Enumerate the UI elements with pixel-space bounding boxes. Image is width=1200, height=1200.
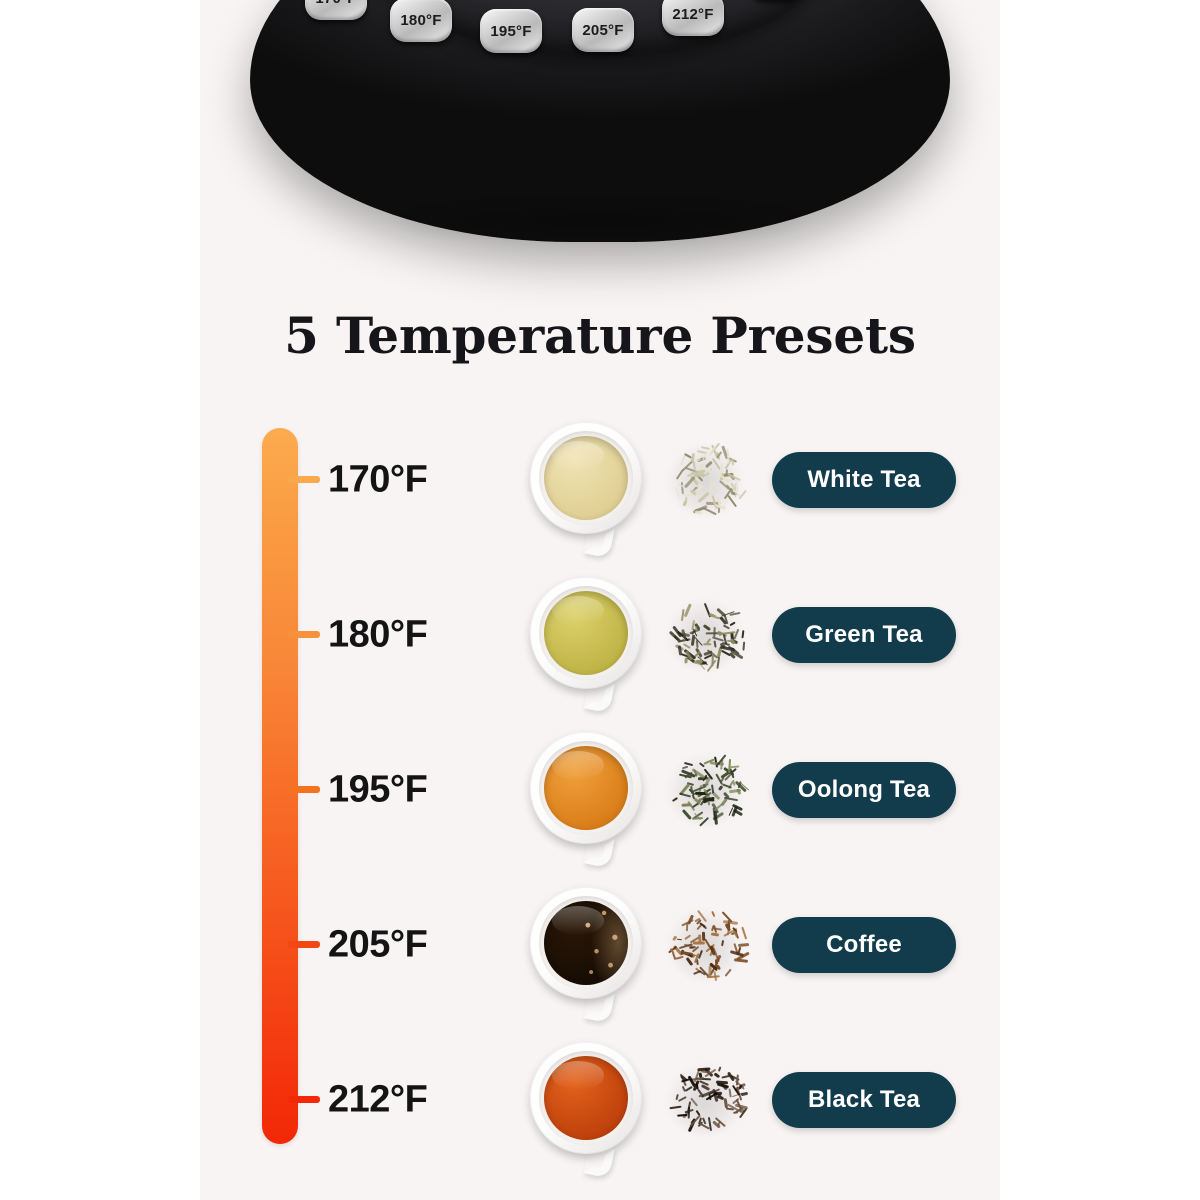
preset-row-list: 170°FWhite Tea180°FGreen Tea195°FOolong … xyxy=(200,420,1000,1160)
kettle-button-oolong[interactable]: 195°F xyxy=(480,9,542,53)
preset-label-pill-coffee[interactable]: Coffee xyxy=(772,917,956,973)
infographic-stage: ON / OFF170°FWHITE180°FGREEN195°FOOLONG2… xyxy=(0,0,1200,1200)
kettle-button-temp-value: 205°F xyxy=(582,22,623,39)
cup-coffee xyxy=(530,887,642,999)
cup-liquid xyxy=(544,591,628,675)
preset-image-green-tea xyxy=(520,572,750,698)
loose-leaf-pile-black-tea xyxy=(662,1053,748,1139)
preset-label-text: White Tea xyxy=(807,466,920,494)
kettle-drop-shadow xyxy=(310,194,890,248)
preset-temperature-green-tea: 180°F xyxy=(328,614,427,657)
kettle-button-temp-value: 212°F xyxy=(672,6,713,23)
preset-temperature-coffee: 205°F xyxy=(328,924,427,967)
loose-leaf-pile-oolong-tea xyxy=(662,743,748,829)
kettle-button-boil-black[interactable]: 212°F xyxy=(662,0,724,36)
scale-tick-black-tea xyxy=(288,1096,320,1103)
preset-temperature-oolong-tea: 195°F xyxy=(328,769,427,812)
preset-temperature-black-tea: 212°F xyxy=(328,1079,427,1122)
content-panel: ON / OFF170°FWHITE180°FGREEN195°FOOLONG2… xyxy=(200,0,1000,1200)
scale-tick-green-tea xyxy=(288,631,320,638)
preset-image-coffee xyxy=(520,882,750,1008)
kettle-button-temp-value: 195°F xyxy=(490,23,531,40)
preset-temperature-white-tea: 170°F xyxy=(328,459,427,502)
preset-label-pill-black-tea[interactable]: Black Tea xyxy=(772,1072,956,1128)
preset-label-text: Black Tea xyxy=(808,1086,920,1114)
loose-leaf-pile-coffee xyxy=(662,898,748,984)
kettle-button-white[interactable]: 170°F xyxy=(305,0,367,20)
preset-label-pill-green-tea[interactable]: Green Tea xyxy=(772,607,956,663)
preset-row-green-tea: 180°FGreen Tea xyxy=(200,575,1000,695)
preset-row-black-tea: 212°FBlack Tea xyxy=(200,1040,1000,1160)
preset-label-text: Oolong Tea xyxy=(798,776,930,804)
coffee-crema xyxy=(576,901,628,985)
cup-black-tea xyxy=(530,1042,642,1154)
temperature-preset-chart: 170°FWhite Tea180°FGreen Tea195°FOolong … xyxy=(200,420,1000,1160)
cup-liquid xyxy=(544,746,628,830)
preset-label-text: Coffee xyxy=(826,931,902,959)
kettle-button-coffee[interactable]: 205°F xyxy=(572,8,634,52)
cup-liquid xyxy=(544,436,628,520)
cup-oolong-tea xyxy=(530,732,642,844)
cup-liquid xyxy=(544,901,628,985)
cup-white-tea xyxy=(530,422,642,534)
scale-tick-oolong-tea xyxy=(288,786,320,793)
preset-label-pill-white-tea[interactable]: White Tea xyxy=(772,452,956,508)
preset-image-oolong-tea xyxy=(520,727,750,853)
scale-tick-white-tea xyxy=(288,476,320,483)
preset-row-white-tea: 170°FWhite Tea xyxy=(200,420,1000,540)
scale-tick-coffee xyxy=(288,941,320,948)
kettle-button-temp-value: 180°F xyxy=(400,12,441,29)
cup-liquid xyxy=(544,1056,628,1140)
preset-row-coffee: 205°FCoffee xyxy=(200,885,1000,1005)
kettle-button-temp-value: 170°F xyxy=(315,0,356,7)
loose-leaf-pile-white-tea xyxy=(662,433,748,519)
preset-label-text: Green Tea xyxy=(805,621,922,649)
preset-label-pill-oolong-tea[interactable]: Oolong Tea xyxy=(772,762,956,818)
cup-green-tea xyxy=(530,577,642,689)
preset-row-oolong-tea: 195°FOolong Tea xyxy=(200,730,1000,850)
page-title: 5 Temperature Presets xyxy=(200,306,1000,365)
loose-leaf-pile-green-tea xyxy=(662,588,748,674)
preset-image-white-tea xyxy=(520,417,750,543)
preset-image-black-tea xyxy=(520,1037,750,1163)
kettle-button-green[interactable]: 180°F xyxy=(390,0,452,42)
kettle-control-panel-image: ON / OFF170°FWHITE180°FGREEN195°FOOLONG2… xyxy=(200,0,1000,262)
